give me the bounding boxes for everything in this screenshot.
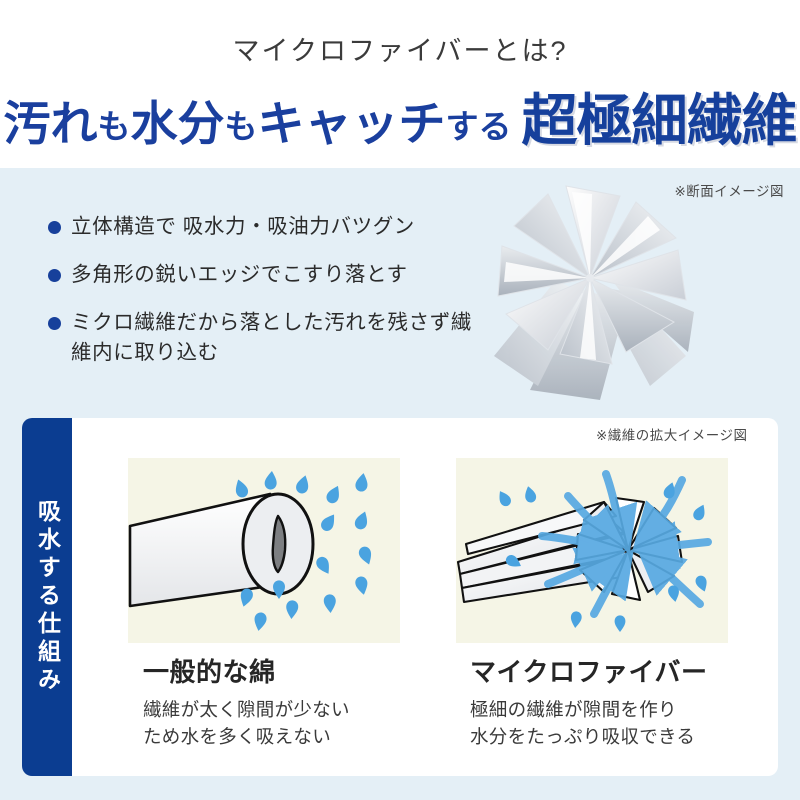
fiber-cross-section-3d-illustration [468,182,800,400]
title-segment-moisture: 水分 [131,85,225,154]
features-panel: ※断面イメージ図 立体構造で 吸水力・吸油力バツグン 多角形の鋭いエッジでこすり… [0,168,800,400]
list-item: 多角形の鋭いエッジでこすり落とす [48,260,478,290]
mechanism-tab: 吸水する仕組み [22,418,72,776]
list-item: ミクロ繊維だから落とした汚れを残さず繊維内に取り込む [48,308,478,368]
cotton-caption: 一般的な綿 繊維が太く隙間が少ない ため水を多く吸えない [143,652,350,750]
title-segment-stain: 汚れ [4,85,98,154]
cotton-desc-line-2: ため水を多く吸えない [143,723,350,750]
list-item: 立体構造で 吸水力・吸油力バツグン [48,212,478,242]
header: マイクロファイバーとは? 汚れ も 水分 も キャッチ する 超極細繊維 [0,0,800,168]
feature-text: 立体構造で 吸水力・吸油力バツグン [71,212,415,242]
title-accent-microfiber: 超極細繊維 [522,76,797,157]
title-particle-3: する [446,100,512,148]
fiber-magnified-note: ※繊維の拡大イメージ図 [596,424,748,444]
page-subtitle: マイクロファイバーとは? [0,29,800,68]
microfiber-desc-line-1: 極細の繊維が隙間を作り [470,696,707,723]
bullet-dot-icon [48,221,61,234]
infographic-page: マイクロファイバーとは? 汚れ も 水分 も キャッチ する 超極細繊維 ※断面… [0,0,800,800]
cotton-desc-line-1: 繊維が太く隙間が少ない [143,696,350,723]
title-particle-2: も [225,100,258,148]
microfiber-caption: マイクロファイバー 極細の繊維が隙間を作り 水分をたっぷり吸収できる [470,652,707,750]
mechanism-tab-label: 吸水する仕組み [36,499,59,695]
microfiber-desc-line-2: 水分をたっぷり吸収できる [470,723,707,750]
title-particle-1: も [98,100,131,148]
page-title: 汚れ も 水分 も キャッチ する 超極細繊維 [0,76,800,157]
cotton-fiber-water-repel-illustration [128,458,400,643]
cotton-caption-desc: 繊維が太く隙間が少ない ため水を多く吸えない [143,696,350,750]
feature-text: ミクロ繊維だから落とした汚れを残さず繊維内に取り込む [71,308,478,368]
feature-list: 立体構造で 吸水力・吸油力バツグン 多角形の鋭いエッジでこすり落とす ミクロ繊維… [48,212,478,386]
cotton-caption-title: 一般的な綿 [143,652,350,689]
title-segment-catch: キャッチ [258,85,446,154]
microfiber-caption-desc: 極細の繊維が隙間を作り 水分をたっぷり吸収できる [470,696,707,750]
bullet-dot-icon [48,317,61,330]
microfiber-water-absorb-illustration [456,458,728,643]
bullet-dot-icon [48,269,61,282]
feature-text: 多角形の鋭いエッジでこすり落とす [71,260,408,290]
microfiber-caption-title: マイクロファイバー [470,652,707,689]
